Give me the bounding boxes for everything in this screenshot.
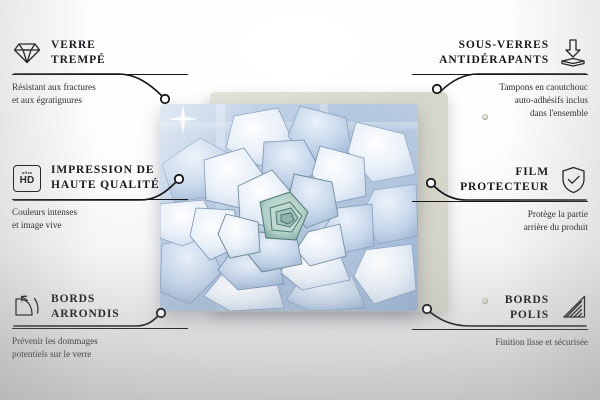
feature-header: FILM PROTECTEUR	[412, 165, 588, 196]
feature-sous-verres-antiderapants: SOUS-VERRES ANTIDÉRAPANTS Tampons en cao…	[412, 38, 588, 120]
feature-description: Résistant aux fractures et aux égratignu…	[12, 81, 188, 107]
press-pad-down-arrow-icon	[558, 38, 588, 68]
feature-bords-arrondis: BORDS ARRONDIS Prévenir les dommages pot…	[12, 292, 188, 361]
feature-title: BORDS ARRONDIS	[51, 292, 120, 323]
feature-title: FILM PROTECTEUR	[460, 165, 549, 196]
feature-title: IMPRESSION DE HAUTE QUALITÉ	[51, 163, 160, 194]
glass-panel-artwork	[160, 104, 418, 311]
diamond-icon	[12, 38, 42, 68]
product-image-group	[152, 84, 452, 324]
feature-description: Couleurs intenses et image vive	[12, 206, 188, 232]
rounded-corner-icon	[12, 292, 42, 322]
infographic-canvas: VERRE TREMPÉ Résistant aux fractures et …	[0, 0, 600, 400]
feature-verre-trempe: VERRE TREMPÉ Résistant aux fractures et …	[12, 38, 188, 107]
divider	[12, 328, 188, 329]
divider	[12, 199, 188, 200]
feature-header: BORDS ARRONDIS	[12, 292, 188, 323]
feature-title: SOUS-VERRES ANTIDÉRAPANTS	[439, 38, 549, 69]
ultra-hd-icon: ultra HD	[12, 163, 42, 193]
feature-header: BORDS POLIS	[412, 293, 588, 324]
feature-bords-polis: BORDS POLIS Finition lisse et sécurisée	[412, 293, 588, 349]
polished-edge-lines-icon	[558, 293, 588, 323]
feature-title: BORDS POLIS	[505, 293, 549, 324]
feature-header: ultra HD IMPRESSION DE HAUTE QUALITÉ	[12, 163, 188, 194]
feature-film-protecteur: FILM PROTECTEUR Protège la partie arrièr…	[412, 165, 588, 234]
divider	[412, 201, 588, 202]
shield-check-icon	[558, 165, 588, 195]
divider	[12, 74, 188, 75]
feature-description: Tampons en caoutchouc auto-adhésifs incl…	[412, 81, 588, 120]
feature-impression-haute-qualite: ultra HD IMPRESSION DE HAUTE QUALITÉ Cou…	[12, 163, 188, 232]
succulent-artwork-svg	[160, 104, 418, 311]
feature-header: SOUS-VERRES ANTIDÉRAPANTS	[412, 38, 588, 69]
feature-description: Protège la partie arrière du produit	[412, 208, 588, 234]
feature-header: VERRE TREMPÉ	[12, 38, 188, 69]
divider	[412, 329, 588, 330]
divider	[412, 74, 588, 75]
ultra-hd-big-label: HD	[20, 176, 35, 186]
feature-description: Prévenir les dommages potentiels sur le …	[12, 335, 188, 361]
feature-title: VERRE TREMPÉ	[51, 38, 106, 69]
feature-description: Finition lisse et sécurisée	[412, 336, 588, 349]
